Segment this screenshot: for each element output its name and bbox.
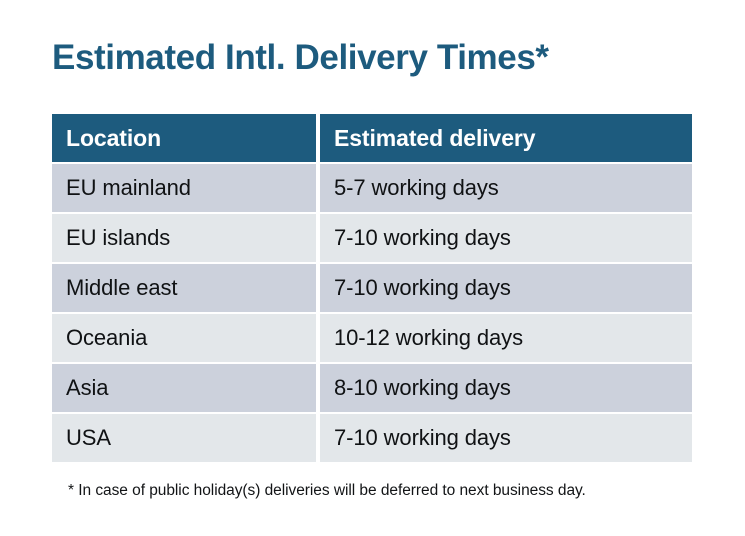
table-header-row: Location Estimated delivery [52, 114, 692, 162]
cell-location: Middle east [52, 264, 316, 312]
column-header-location: Location [52, 114, 316, 162]
footnote-text: * In case of public holiday(s) deliverie… [68, 481, 586, 501]
cell-location: EU islands [52, 214, 316, 262]
cell-delivery: 7-10 working days [320, 264, 692, 312]
table-row: USA 7-10 working days [52, 414, 692, 462]
table-row: EU mainland 5-7 working days [52, 164, 692, 212]
table-row: Oceania 10-12 working days [52, 314, 692, 362]
table-row: Middle east 7-10 working days [52, 264, 692, 312]
column-header-delivery: Estimated delivery [320, 114, 692, 162]
cell-delivery: 7-10 working days [320, 414, 692, 462]
cell-location: Oceania [52, 314, 316, 362]
cell-location: Asia [52, 364, 316, 412]
cell-location: EU mainland [52, 164, 316, 212]
cell-delivery: 7-10 working days [320, 214, 692, 262]
cell-location: USA [52, 414, 316, 462]
table-row: EU islands 7-10 working days [52, 214, 692, 262]
page-title: Estimated Intl. Delivery Times* [52, 36, 549, 80]
cell-delivery: 10-12 working days [320, 314, 692, 362]
cell-delivery: 5-7 working days [320, 164, 692, 212]
cell-delivery: 8-10 working days [320, 364, 692, 412]
delivery-times-page: Estimated Intl. Delivery Times* Location… [0, 0, 745, 536]
table-row: Asia 8-10 working days [52, 364, 692, 412]
delivery-times-table: Location Estimated delivery EU mainland … [52, 114, 692, 462]
